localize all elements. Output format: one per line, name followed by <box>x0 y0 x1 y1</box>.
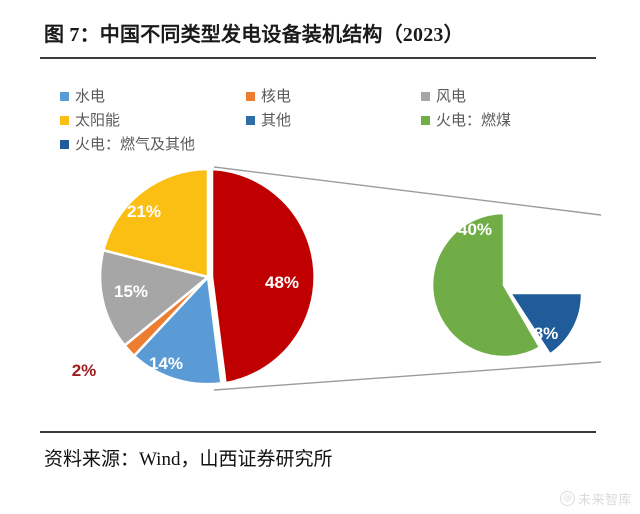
legend-item-thermal-coal[interactable]: 火电：燃煤 <box>421 113 581 128</box>
source-divider <box>40 431 596 433</box>
pie-label-wind: 15% <box>114 282 148 301</box>
chart-canvas: 48% 14% 15% 21% 2% 40% 8% <box>0 150 640 425</box>
watermark: @ 未来智库 <box>560 489 632 508</box>
primary-pie: 48% 14% 15% 21% 2% <box>72 169 315 384</box>
watermark-badge-icon: @ <box>560 491 575 506</box>
legend-label-solar: 太阳能 <box>75 113 120 128</box>
legend-item-other[interactable]: 其他 <box>246 113 421 128</box>
title-divider <box>40 57 596 59</box>
secondary-pie: 40% 8% <box>432 213 582 357</box>
legend-swatch-thermal-coal <box>421 116 430 125</box>
legend-swatch-wind <box>421 92 430 101</box>
chart-legend: 水电 核电 风电 太阳能 其他 火电：燃煤 <box>60 84 590 156</box>
pie-slice-thermal-total[interactable] <box>212 169 315 383</box>
connector-line-bottom <box>214 362 601 390</box>
legend-label-thermal-coal: 火电：燃煤 <box>436 113 511 128</box>
legend-swatch-nuclear <box>246 92 255 101</box>
legend-item-nuclear[interactable]: 核电 <box>246 89 421 104</box>
watermark-text: 未来智库 <box>578 489 632 508</box>
source-text: 资料来源：Wind，山西证券研究所 <box>44 444 332 471</box>
pie-label-hydro: 14% <box>149 354 183 373</box>
figure-container: 图 7：中国不同类型发电设备装机结构（2023） 水电 核电 风电 太阳能 <box>0 0 640 514</box>
legend-label-wind: 风电 <box>436 89 466 104</box>
legend-swatch-thermal-gas-other <box>60 140 69 149</box>
legend-item-solar[interactable]: 太阳能 <box>60 113 246 128</box>
legend-label-hydro: 水电 <box>75 89 105 104</box>
legend-row: 水电 核电 风电 <box>60 84 590 108</box>
legend-item-hydro[interactable]: 水电 <box>60 89 246 104</box>
pie-label-thermal-total: 48% <box>265 273 299 292</box>
pie-label-thermal-gas-other: 8% <box>534 324 559 343</box>
legend-label-nuclear: 核电 <box>261 89 291 104</box>
pie-label-solar: 21% <box>127 202 161 221</box>
legend-label-other: 其他 <box>261 113 291 128</box>
legend-row: 太阳能 其他 火电：燃煤 <box>60 108 590 132</box>
page-title: 图 7：中国不同类型发电设备装机结构（2023） <box>44 18 464 47</box>
legend-swatch-other <box>246 116 255 125</box>
pie-of-pie-chart: 48% 14% 15% 21% 2% 40% 8% <box>0 150 640 425</box>
legend-swatch-solar <box>60 116 69 125</box>
pie-label-nuclear: 2% <box>72 361 97 380</box>
pie-label-thermal-coal: 40% <box>458 220 492 239</box>
legend-swatch-hydro <box>60 92 69 101</box>
legend-item-wind[interactable]: 风电 <box>421 89 581 104</box>
